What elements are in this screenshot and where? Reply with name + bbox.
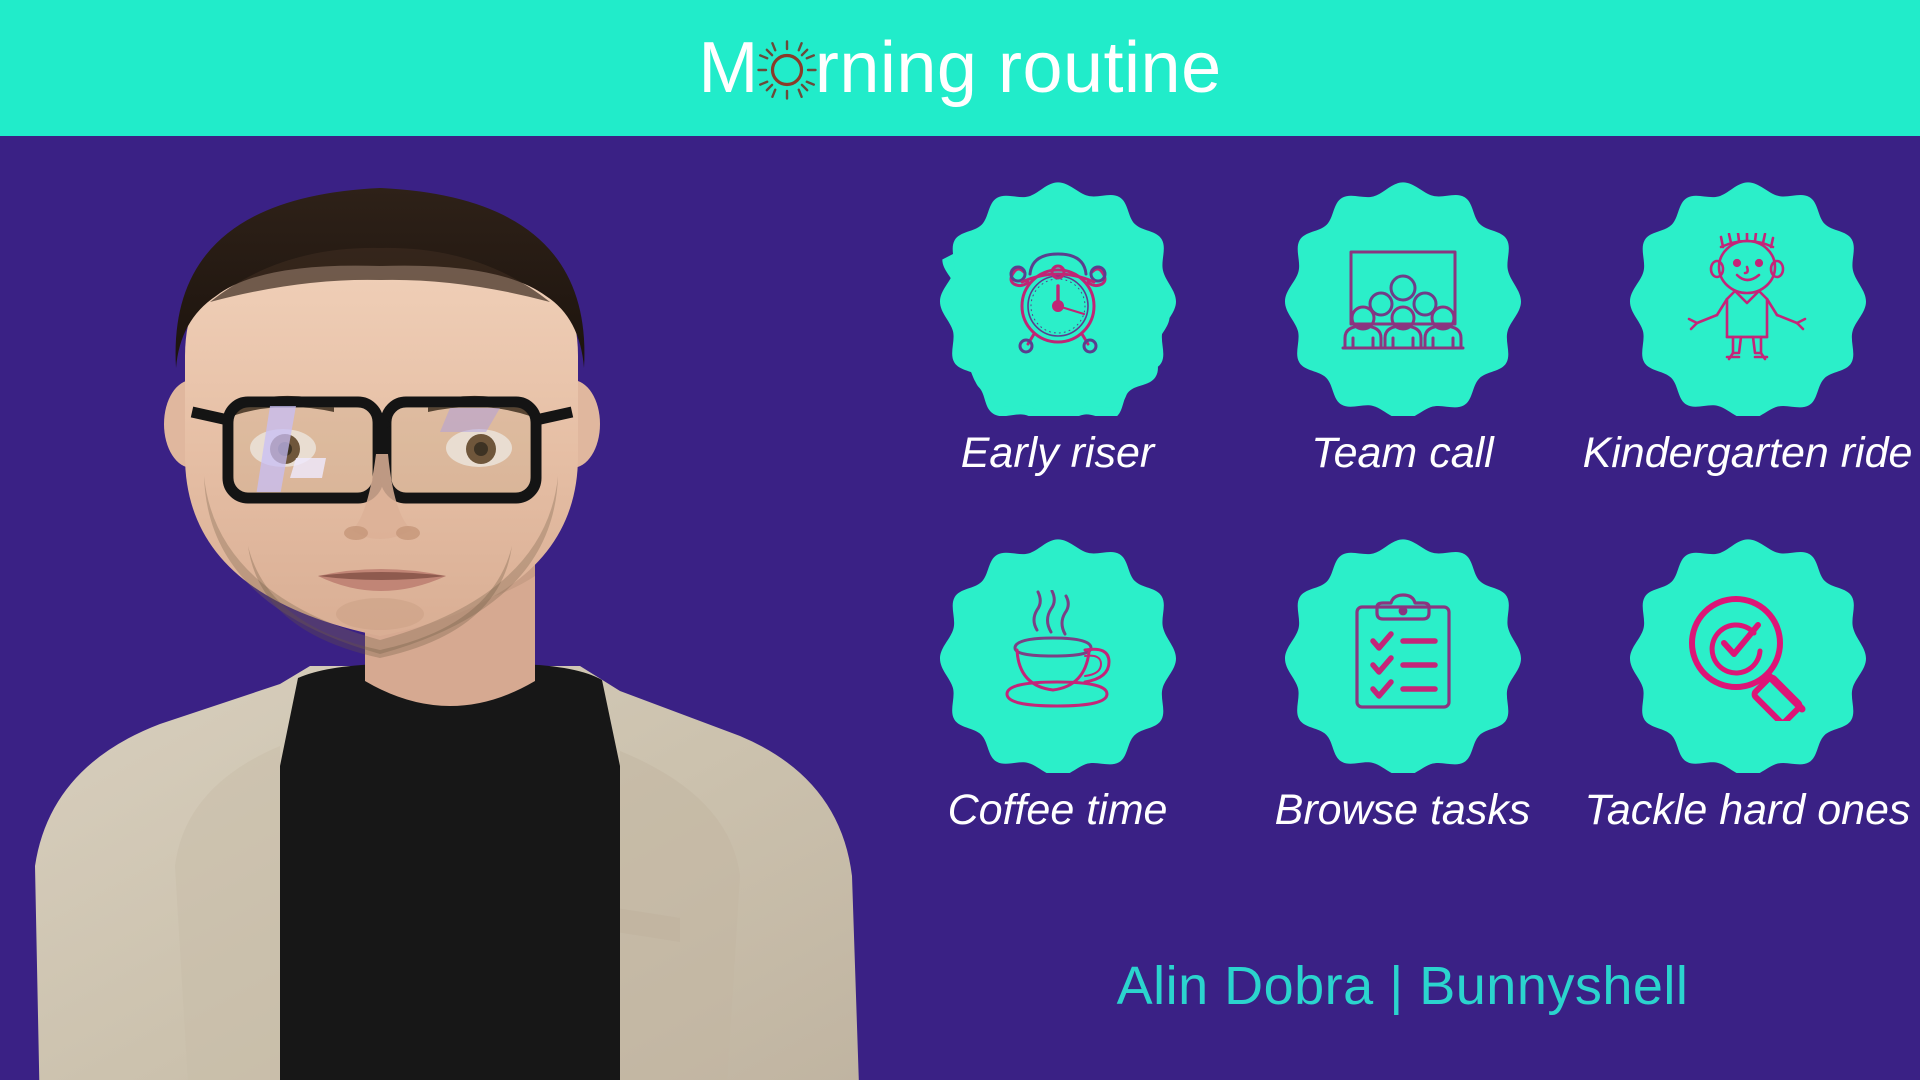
- page-title: M: [698, 32, 1221, 104]
- coffee-cup-icon: [993, 590, 1123, 720]
- routine-item-kindergarten-ride[interactable]: Kindergarten ride: [1575, 180, 1920, 477]
- speaker-credit: Alin Dobra | Bunnyshell: [1117, 956, 1689, 1016]
- routine-item-browse-tasks[interactable]: Browse tasks: [1230, 537, 1575, 834]
- routine-label: Kindergarten ride: [1583, 430, 1913, 477]
- routine-item-coffee-time[interactable]: Coffee time: [885, 537, 1230, 834]
- routine-item-tackle-hard-ones[interactable]: Tackle hard ones: [1575, 537, 1920, 834]
- routine-label: Early riser: [961, 430, 1155, 477]
- alarm-clock-icon: [998, 238, 1118, 358]
- badge-kindergarten-ride: [1630, 180, 1866, 416]
- footer: Alin Dobra | Bunnyshell: [885, 955, 1920, 1017]
- routine-label: Tackle hard ones: [1585, 787, 1911, 834]
- magnifier-check-icon: [1682, 589, 1814, 721]
- routine-label: Team call: [1311, 430, 1493, 477]
- routine-item-team-call[interactable]: Team call: [1230, 180, 1575, 477]
- child-icon: [1683, 233, 1813, 363]
- routine-label: Coffee time: [948, 787, 1168, 834]
- slide-canvas: M: [0, 0, 1920, 1080]
- badge-browse-tasks: [1285, 537, 1521, 773]
- badge-team-call: [1285, 180, 1521, 416]
- clipboard-checklist-icon: [1343, 593, 1463, 717]
- speaker-photo: [0, 136, 910, 1080]
- badge-coffee-time: [940, 537, 1176, 773]
- title-suffix: rning routine: [815, 32, 1222, 104]
- sun-icon: [756, 32, 818, 104]
- badge-early-riser: [940, 180, 1176, 416]
- title-prefix: M: [698, 32, 758, 104]
- header-band: M: [0, 0, 1920, 136]
- routine-item-early-riser[interactable]: Early riser: [885, 180, 1230, 477]
- badge-tackle-hard-ones: [1630, 537, 1866, 773]
- speaker-portrait-image: [0, 136, 910, 1080]
- presentation-audience-icon: [1341, 236, 1465, 360]
- routine-label: Browse tasks: [1275, 787, 1531, 834]
- routine-grid: Early riser: [885, 180, 1920, 835]
